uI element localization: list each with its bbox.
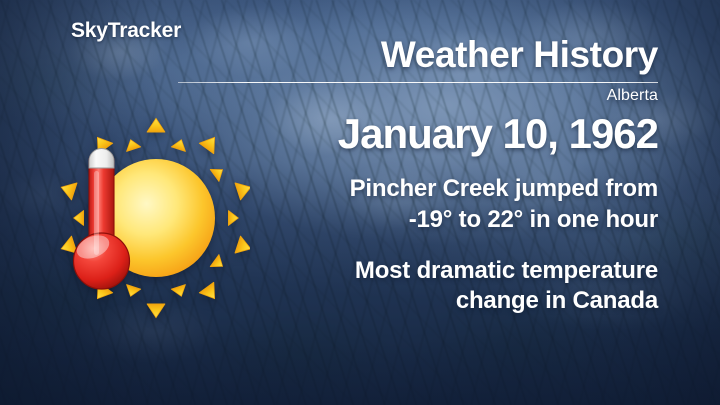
fact-line-2: -19° to 22° in one hour bbox=[178, 205, 658, 236]
page-title: Weather History bbox=[178, 36, 658, 73]
skytracker-logo: SkyTracker bbox=[71, 19, 181, 43]
title-divider bbox=[178, 82, 658, 83]
fact-paragraph-2: Most dramatic temperature change in Cana… bbox=[178, 256, 658, 317]
fact-line-3: Most dramatic temperature bbox=[178, 256, 658, 287]
weather-history-graphic: SkyTracker bbox=[0, 0, 720, 405]
fact-line-4: change in Canada bbox=[178, 286, 658, 317]
fact-paragraph-1: Pincher Creek jumped from -19° to 22° in… bbox=[178, 174, 658, 235]
text-block: Weather History Alberta January 10, 1962… bbox=[178, 36, 658, 317]
event-date: January 10, 1962 bbox=[178, 112, 658, 156]
region-label: Alberta bbox=[178, 86, 658, 105]
fact-line-1: Pincher Creek jumped from bbox=[178, 174, 658, 205]
